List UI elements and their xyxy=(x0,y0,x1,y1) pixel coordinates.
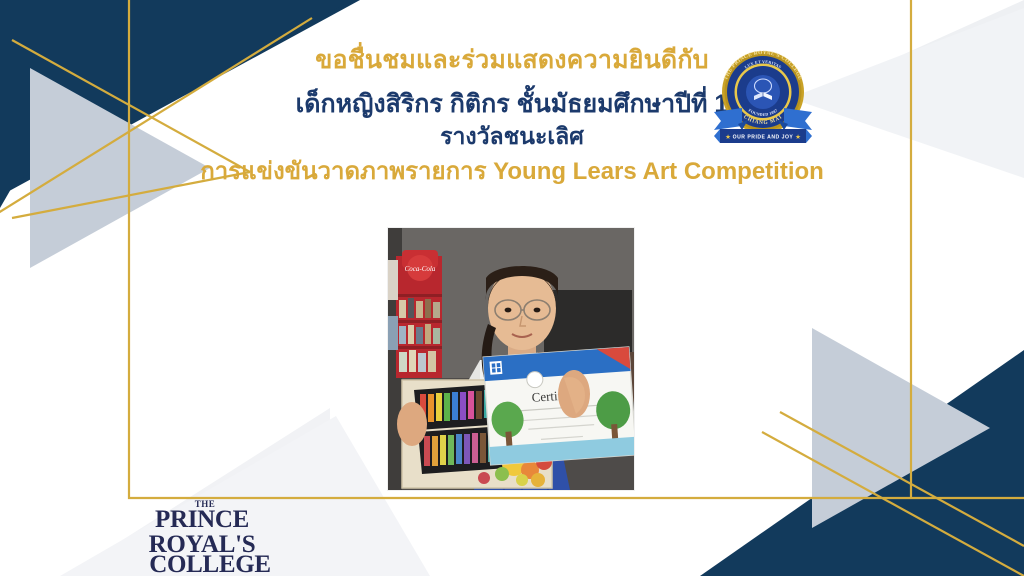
navy-triangle-bottomright xyxy=(718,362,1024,576)
photo-student-eye-right xyxy=(534,308,541,313)
award-photo: Coca-Cola xyxy=(388,228,634,490)
photo-monitor xyxy=(544,290,632,352)
school-wordmark: THE PRINCE ROYAL'S COLLEGE CHIANG MAI·FO… xyxy=(112,500,292,576)
photo-poster-left xyxy=(388,260,398,300)
headline-line-3: รางวัลชนะเลิศ xyxy=(0,122,1024,151)
photo-cooler-brand: Coca-Cola xyxy=(405,265,436,273)
wordmark-line-2: COLLEGE xyxy=(128,552,292,576)
photo-certificate-logo xyxy=(489,361,502,375)
photo-shelf-3 xyxy=(396,346,442,349)
seal-banner-text: OUR PRIDE AND JOY xyxy=(733,135,794,141)
photo-certificate: Certificate xyxy=(483,347,634,465)
seal-banner-right-notch xyxy=(806,129,812,143)
gold-diagonal-bottomright-2 xyxy=(780,412,1024,546)
gray-triangle-right xyxy=(812,328,990,528)
headline-line-2: เด็กหญิงสิริกร กิติกร ชั้นมัธยมศึกษาปีที… xyxy=(0,88,1024,120)
gold-diagonal-bottomright xyxy=(762,432,1024,576)
navy-wedge-bottomright xyxy=(700,350,1024,576)
seal-banner-star-right: ★ xyxy=(795,134,801,141)
photo-hand-left xyxy=(397,402,427,446)
seal-banner-star-left: ★ xyxy=(725,134,731,141)
photo-shelf-2 xyxy=(396,320,442,323)
wordmark-line-1: PRINCE ROYAL'S xyxy=(112,507,292,557)
seal-ribbon-right xyxy=(784,108,812,130)
seal-ribbon-left xyxy=(714,108,742,130)
headline-block: ขอชื่นชมและร่วมแสดงความยินดีกับ เด็กหญิง… xyxy=(0,44,1024,188)
seal-banner-left-notch xyxy=(714,129,720,143)
headline-line-4: การแข่งขันวาดภาพรายการ Young Lears Art C… xyxy=(0,157,1024,188)
photo-student-eye-left xyxy=(505,308,512,313)
photo-shelf-1 xyxy=(396,294,442,297)
school-seal: THE PRINCE ROYAL'S COLLEGE CHIANG MAI LU… xyxy=(708,34,818,146)
headline-line-1: ขอชื่นชมและร่วมแสดงความยินดีกับ xyxy=(0,44,1024,76)
congratulations-poster: ขอชื่นชมและร่วมแสดงความยินดีกับ เด็กหญิง… xyxy=(0,0,1024,576)
